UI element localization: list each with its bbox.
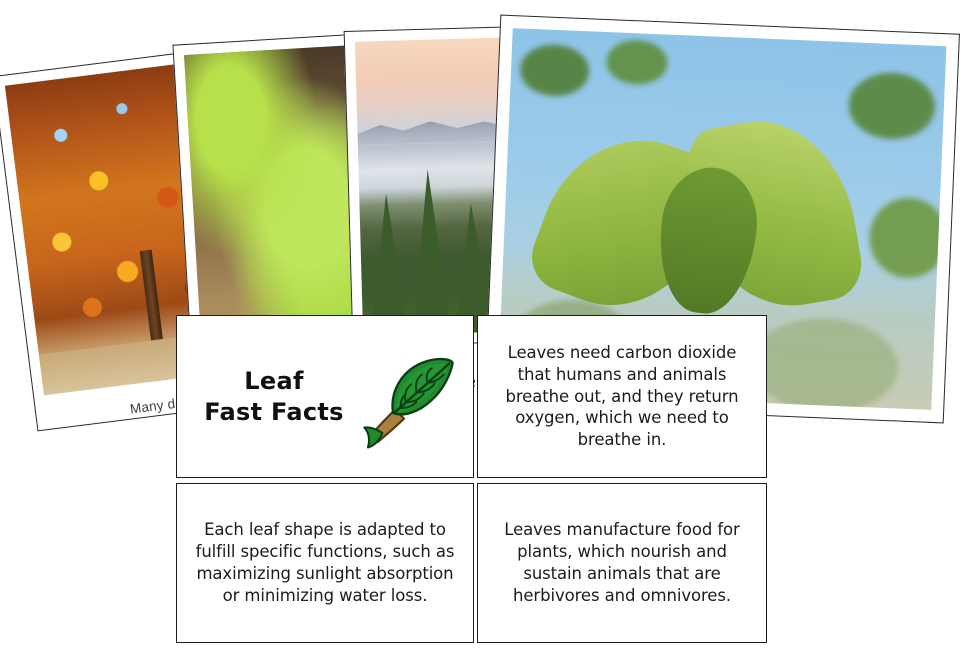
background-foliage-blur [867,196,946,279]
title-card-heading: Leaf Fast Facts [204,366,343,426]
fact-card-leaf-shape[interactable]: Each leaf shape is adapted to fulfill sp… [176,483,474,643]
card-set-canvas: Many decidu e Le [0,0,964,668]
background-foliage-blur [519,43,591,97]
background-foliage-blur [749,315,900,410]
background-foliage-blur [847,71,936,140]
fact-card-text: Each leaf shape is adapted to fulfill sp… [195,519,455,606]
fact-card-text: Leaves need carbon dioxide that humans a… [495,342,748,451]
fact-card-text: Leaves manufacture food for plants, whic… [495,519,748,606]
title-line-1: Leaf [204,366,343,396]
conifer-shape [408,169,451,335]
fact-card-carbon-dioxide[interactable]: Leaves need carbon dioxide that humans a… [477,315,767,478]
title-card[interactable]: Leaf Fast Facts [176,315,474,478]
title-line-2: Fast Facts [204,397,343,427]
background-foliage-blur [606,39,669,85]
leaf-icon [350,343,458,451]
fact-card-food-manufacture[interactable]: Leaves manufacture food for plants, whic… [477,483,767,643]
